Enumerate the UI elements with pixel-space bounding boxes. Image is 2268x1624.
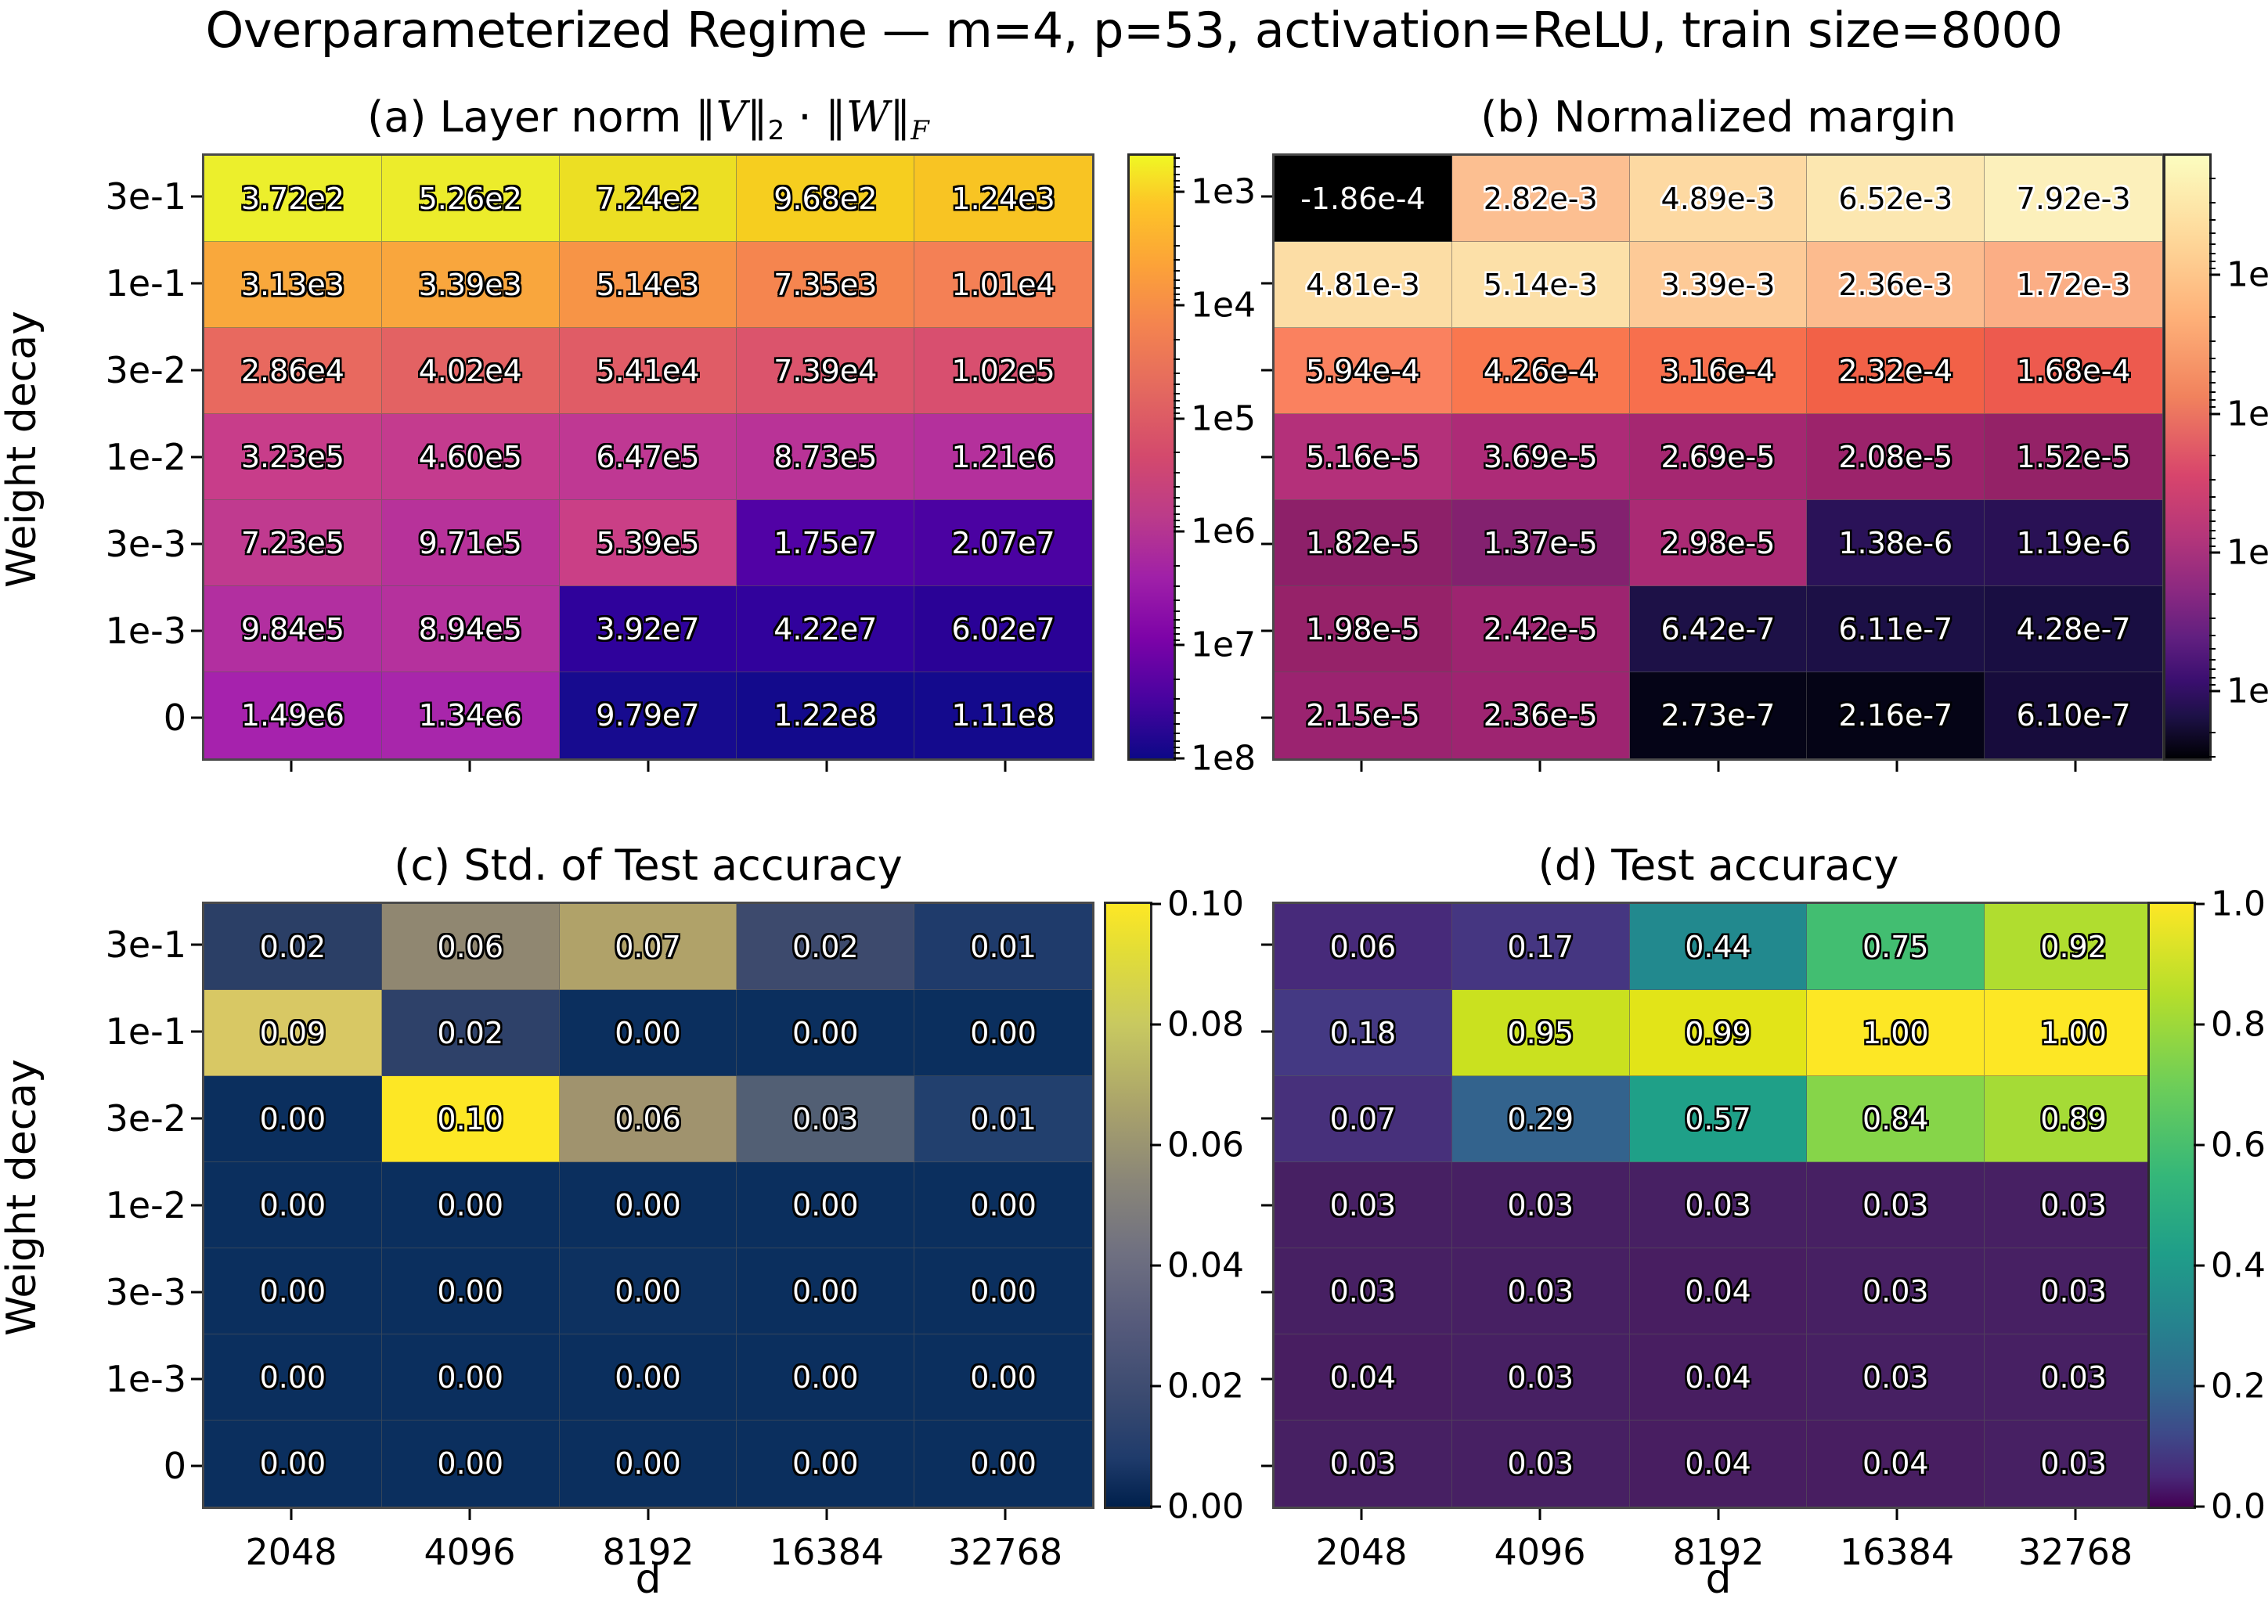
heatmap-cell-value: 0.00 (970, 1016, 1037, 1050)
colorbar-tick-label: 1e6 (1191, 512, 1256, 552)
colorbar-minor-tick (1174, 723, 1180, 725)
heatmap-cell-value: 0.03 (792, 1102, 859, 1136)
heatmap-cell-value: 0.04 (1685, 1360, 1751, 1395)
colorbar-minor-tick (2209, 268, 2216, 269)
colorbar-tick-label: 0.6 (2211, 1125, 2266, 1165)
heatmap-cell-value: 2.32e-4 (1838, 354, 1952, 388)
heatmap-cell: 1.82e-5 (1275, 500, 1452, 586)
y-tick-mark (1261, 944, 1272, 946)
heatmap-cell-value: 0.10 (437, 1102, 503, 1136)
colorbar-minor-tick (1174, 520, 1180, 521)
heatmap-cell: 0.00 (737, 1421, 914, 1507)
heatmap-cell: 0.00 (382, 1248, 560, 1334)
panel-d-heatmap-grid: 0.060.170.440.750.920.180.950.991.001.00… (1272, 902, 2165, 1509)
heatmap-cell-value: 7.23e5 (241, 526, 344, 560)
heatmap-cell-value: 4.60e5 (419, 440, 522, 474)
heatmap-cell: 2.32e-4 (1807, 328, 1985, 414)
colorbar-minor-tick (2209, 455, 2216, 456)
colorbar-minor-tick (1174, 619, 1180, 621)
heatmap-cell: 0.03 (1275, 1421, 1452, 1507)
heatmap-cell-value: 0.00 (437, 1446, 503, 1481)
heatmap-cell-value: 0.00 (792, 1446, 859, 1481)
heatmap-cell-value: 2.07e7 (952, 526, 1055, 560)
heatmap-cell-value: 2.73e-7 (1661, 698, 1776, 733)
colorbar-minor-tick (1174, 752, 1180, 754)
colorbar-minor-tick (2209, 496, 2216, 498)
colorbar-minor-tick (1174, 339, 1180, 340)
colorbar-minor-tick (2209, 253, 2216, 254)
colorbar-tick-label: 1e8 (1191, 739, 1256, 779)
heatmap-cell-value: 7.39e4 (773, 354, 877, 388)
y-tick-mark (191, 542, 202, 545)
heatmap-cell: 0.75 (1807, 904, 1985, 990)
heatmap-cell: 0.03 (1807, 1248, 1985, 1334)
heatmap-cell: 3.39e3 (382, 242, 560, 328)
heatmap-cell: 0.02 (737, 904, 914, 990)
heatmap-cell: 1.11e8 (914, 672, 1092, 758)
heatmap-cell-value: 0.17 (1507, 930, 1574, 964)
heatmap-cell: 0.00 (382, 1421, 560, 1507)
colorbar-minor-tick (2209, 732, 2216, 733)
heatmap-cell-value: 1.34e6 (419, 698, 522, 733)
y-tick-label: 3e-1 (106, 924, 186, 966)
colorbar-minor-tick (2209, 371, 2216, 373)
heatmap-cell: 1.38e-6 (1807, 500, 1985, 586)
heatmap-cell-value: 0.00 (260, 1188, 326, 1223)
heatmap-cell-value: 7.35e3 (773, 268, 877, 302)
heatmap-cell-value: 0.03 (1862, 1188, 1929, 1223)
heatmap-cell-value: 4.28e-7 (2017, 612, 2131, 646)
heatmap-cell-value: 1.11e8 (952, 698, 1055, 733)
heatmap-cell-value: 9.84e5 (241, 612, 344, 646)
colorbar-tick-mark (1174, 531, 1184, 533)
colorbar-tick-mark (2194, 1506, 2205, 1508)
colorbar-minor-tick (1174, 157, 1180, 159)
heatmap-cell: 0.89 (1985, 1076, 2162, 1162)
heatmap-cell: 0.02 (382, 990, 560, 1076)
heatmap-cell: 2.36e-3 (1807, 242, 1985, 328)
x-tick-mark (469, 1509, 471, 1520)
heatmap-cell: 0.92 (1985, 904, 2162, 990)
y-tick-label: 1e-2 (106, 1184, 186, 1226)
colorbar-tick-mark (1150, 903, 1161, 906)
heatmap-cell: 5.41e4 (560, 328, 737, 414)
y-tick-mark (1261, 1031, 1272, 1033)
y-tick-mark (1261, 1377, 1272, 1380)
colorbar-tick-mark (1174, 304, 1184, 306)
heatmap-cell-value: 6.10e-7 (2017, 698, 2131, 733)
colorbar-tick-label: 0.06 (1167, 1125, 1244, 1165)
colorbar-minor-tick (1174, 259, 1180, 261)
heatmap-cell: 7.23e5 (204, 500, 382, 586)
panel-a-title-dot: · (784, 92, 825, 142)
colorbar-minor-tick (2209, 243, 2216, 245)
colorbar-minor-tick (2209, 178, 2216, 179)
y-tick-mark (191, 283, 202, 285)
colorbar-minor-tick (1174, 270, 1180, 272)
heatmap-cell: 0.03 (1985, 1334, 2162, 1421)
heatmap-cell-value: 2.36e-3 (1838, 268, 1952, 302)
heatmap-cell: 0.00 (560, 1162, 737, 1248)
y-tick-mark (191, 716, 202, 718)
x-tick-mark (1896, 1509, 1898, 1520)
colorbar-minor-tick (2209, 677, 2216, 679)
colorbar-minor-tick (2209, 382, 2216, 383)
heatmap-cell: 0.04 (1630, 1248, 1808, 1334)
heatmap-cell-value: 2.42e-5 (1484, 612, 1598, 646)
heatmap-cell-value: 0.00 (792, 1274, 859, 1309)
heatmap-cell-value: 3.92e7 (596, 612, 699, 646)
y-tick-mark (1261, 542, 1272, 545)
heatmap-cell: 0.03 (737, 1076, 914, 1162)
heatmap-cell: 0.00 (914, 1334, 1092, 1421)
heatmap-cell-value: 1.01e4 (952, 268, 1055, 302)
heatmap-cell-value: 6.11e-7 (1838, 612, 1952, 646)
heatmap-cell: 0.10 (382, 1076, 560, 1162)
heatmap-cell: 2.42e-5 (1452, 586, 1630, 672)
heatmap-cell-value: 4.22e7 (773, 612, 877, 646)
heatmap-cell-value: 0.06 (437, 930, 503, 964)
panel-a-title-v: V (716, 92, 747, 142)
x-tick-mark (1004, 761, 1007, 772)
heatmap-cell-value: 0.03 (1330, 1446, 1397, 1481)
heatmap-cell: 0.00 (382, 1334, 560, 1421)
heatmap-cell-value: 0.00 (260, 1102, 326, 1136)
heatmap-cell-value: 6.47e5 (596, 440, 699, 474)
heatmap-cell: 1.34e6 (382, 672, 560, 758)
y-tick-mark (191, 369, 202, 372)
y-tick-mark (191, 1118, 202, 1120)
heatmap-cell-value: 4.89e-3 (1661, 182, 1776, 216)
heatmap-cell-value: 1.49e6 (241, 698, 344, 733)
heatmap-cell-value: 0.89 (2040, 1102, 2107, 1136)
heatmap-cell: 4.28e-7 (1985, 586, 2162, 672)
heatmap-cell: 0.00 (914, 990, 1092, 1076)
heatmap-cell: 0.00 (204, 1076, 382, 1162)
heatmap-cell-value: 0.00 (437, 1188, 503, 1223)
heatmap-cell-value: 9.71e5 (419, 526, 522, 560)
heatmap-cell-value: 2.36e-5 (1484, 698, 1598, 733)
colorbar-minor-tick (1174, 245, 1180, 247)
colorbar-tick-mark (1150, 1265, 1161, 1267)
heatmap-cell-value: 0.09 (260, 1016, 326, 1050)
heatmap-cell-value: 1.00 (2040, 1016, 2107, 1050)
heatmap-cell-value: 0.92 (2040, 930, 2107, 964)
heatmap-cell-value: 1.00 (1862, 1016, 1929, 1050)
y-tick-label: 1e-1 (106, 1010, 186, 1053)
heatmap-cell: 3.23e5 (204, 414, 382, 500)
heatmap-cell: 1.01e4 (914, 242, 1092, 328)
heatmap-cell-value: 0.03 (1330, 1188, 1397, 1223)
x-tick-mark (1361, 1509, 1363, 1520)
heatmap-cell: 0.17 (1452, 904, 1630, 990)
heatmap-cell: 0.04 (1630, 1334, 1808, 1421)
heatmap-cell: 5.14e3 (560, 242, 737, 328)
colorbar-minor-tick (1174, 407, 1180, 409)
x-tick-mark (647, 761, 650, 772)
heatmap-cell-value: 1.21e6 (952, 440, 1055, 474)
heatmap-cell-value: 1.98e-5 (1306, 612, 1420, 646)
heatmap-cell: 1.19e-6 (1985, 500, 2162, 586)
heatmap-cell-value: 0.75 (1862, 930, 1929, 964)
heatmap-cell: 0.01 (914, 1076, 1092, 1162)
heatmap-cell: 0.06 (560, 1076, 737, 1162)
heatmap-cell: 2.36e-5 (1452, 672, 1630, 758)
heatmap-cell-value: 0.03 (1507, 1274, 1574, 1309)
heatmap-cell: 0.03 (1985, 1162, 2162, 1248)
heatmap-cell-value: 0.44 (1685, 930, 1751, 964)
heatmap-cell-value: 1.52e-5 (2017, 440, 2131, 474)
y-tick-mark (1261, 369, 1272, 372)
figure-suptitle: Overparameterized Regime — m=4, p=53, ac… (0, 2, 2268, 59)
heatmap-cell: 6.47e5 (560, 414, 737, 500)
panel-d-colorbar: 1.00.80.60.40.20.0 (2147, 902, 2196, 1509)
colorbar-tick-label: 0.04 (1167, 1246, 1244, 1286)
heatmap-cell-value: 5.14e-3 (1484, 268, 1598, 302)
heatmap-cell: 9.79e7 (560, 672, 737, 758)
heatmap-cell-value: 0.00 (970, 1360, 1037, 1395)
heatmap-cell: 7.24e2 (560, 156, 737, 242)
colorbar-tick-label: 0.10 (1167, 884, 1244, 924)
heatmap-cell-value: 5.39e5 (596, 526, 699, 560)
heatmap-cell: 0.95 (1452, 990, 1630, 1076)
y-tick-mark (1261, 1204, 1272, 1207)
panel-a-ylabel: Weight decay (0, 261, 45, 637)
y-tick-label: 0 (164, 697, 186, 739)
heatmap-cell: 0.18 (1275, 990, 1452, 1076)
heatmap-cell-value: 7.92e-3 (2017, 182, 2131, 216)
colorbar-tick-mark (1174, 417, 1184, 420)
heatmap-cell: 2.73e-7 (1630, 672, 1808, 758)
heatmap-cell: 1.02e5 (914, 328, 1092, 414)
heatmap-cell-value: 3.23e5 (241, 440, 344, 474)
y-tick-mark (191, 1291, 202, 1293)
heatmap-cell: 0.03 (1452, 1334, 1630, 1421)
colorbar-minor-tick (1174, 225, 1180, 227)
heatmap-cell: 9.68e2 (737, 156, 914, 242)
x-tick-mark (1718, 761, 1720, 772)
heatmap-cell-value: 1.68e-4 (2017, 354, 2131, 388)
heatmap-cell-value: 0.02 (260, 930, 326, 964)
heatmap-cell: 1.98e-5 (1275, 586, 1452, 672)
heatmap-cell: 0.00 (737, 990, 914, 1076)
heatmap-cell: 3.72e2 (204, 156, 382, 242)
heatmap-cell-value: 4.26e-4 (1484, 354, 1598, 388)
heatmap-cell: 6.02e7 (914, 586, 1092, 672)
heatmap-cell-value: 0.00 (260, 1360, 326, 1395)
heatmap-cell-value: 0.07 (1330, 1102, 1397, 1136)
heatmap-cell-value: 2.82e-3 (1484, 182, 1598, 216)
x-tick-mark (647, 1509, 650, 1520)
colorbar-minor-tick (1174, 639, 1180, 641)
colorbar-minor-tick (2209, 668, 2216, 670)
heatmap-cell-value: 4.02e4 (419, 354, 522, 388)
heatmap-cell-value: 5.26e2 (419, 182, 522, 216)
heatmap-cell-value: 0.84 (1862, 1102, 1929, 1136)
y-tick-label: 0 (164, 1445, 186, 1487)
heatmap-cell-value: 0.03 (1330, 1274, 1397, 1309)
figure-canvas: Overparameterized Regime — m=4, p=53, ac… (0, 0, 2268, 1624)
heatmap-cell: 6.11e-7 (1807, 586, 1985, 672)
heatmap-cell-value: 3.16e-4 (1661, 354, 1776, 388)
heatmap-cell: 3.69e-5 (1452, 414, 1630, 500)
y-tick-mark (1261, 1291, 1272, 1293)
heatmap-cell: 1.52e-5 (1985, 414, 2162, 500)
panel-a-title-sub2: 2 (768, 115, 785, 146)
colorbar-minor-tick (1174, 373, 1180, 374)
colorbar-minor-tick (1174, 698, 1180, 700)
heatmap-cell: 1.00 (1985, 990, 2162, 1076)
colorbar-minor-tick (2209, 635, 2216, 636)
heatmap-cell: 1.21e6 (914, 414, 1092, 500)
y-tick-mark (1261, 1464, 1272, 1467)
colorbar-tick-mark (1174, 644, 1184, 646)
x-tick-mark (1539, 761, 1541, 772)
heatmap-cell: 4.22e7 (737, 586, 914, 672)
colorbar-minor-tick (1174, 740, 1180, 742)
heatmap-cell: 0.04 (1275, 1334, 1452, 1421)
heatmap-cell: 1.68e-4 (1985, 328, 2162, 414)
colorbar-minor-tick (2209, 520, 2216, 522)
colorbar-minor-tick (1174, 526, 1180, 528)
heatmap-cell: 0.04 (1630, 1421, 1808, 1507)
heatmap-cell-value: 0.00 (792, 1188, 859, 1223)
colorbar-minor-tick (1174, 383, 1180, 385)
colorbar-minor-tick (2209, 659, 2216, 661)
heatmap-cell: 5.39e5 (560, 500, 737, 586)
colorbar-minor-tick (2209, 219, 2216, 221)
heatmap-cell-value: 0.00 (260, 1274, 326, 1309)
colorbar-tick-label: 1e-4 (2227, 394, 2268, 434)
colorbar-tick-label: 0.08 (1167, 1005, 1244, 1045)
y-tick-mark (1261, 456, 1272, 459)
heatmap-cell-value: 1.37e-5 (1484, 526, 1598, 560)
colorbar-minor-tick (2209, 756, 2216, 758)
heatmap-cell-value: 3.39e-3 (1661, 268, 1776, 302)
colorbar-minor-tick (1174, 506, 1180, 507)
colorbar-minor-tick (1174, 733, 1180, 734)
heatmap-cell-value: 0.03 (2040, 1188, 2107, 1223)
y-tick-label: 3e-2 (106, 1097, 186, 1140)
heatmap-cell: 2.16e-7 (1807, 672, 1985, 758)
colorbar-minor-tick (1174, 358, 1180, 360)
heatmap-cell-value: 0.03 (1685, 1188, 1751, 1223)
heatmap-cell-value: 0.06 (1330, 930, 1397, 964)
heatmap-cell: 4.02e4 (382, 328, 560, 414)
heatmap-cell-value: 0.00 (615, 1188, 681, 1223)
heatmap-cell-value: 3.13e3 (241, 268, 344, 302)
colorbar-minor-tick (2209, 399, 2216, 401)
heatmap-cell-value: 0.03 (1507, 1446, 1574, 1481)
heatmap-cell: 0.03 (1630, 1162, 1808, 1248)
panel-c-heatmap-grid: 0.020.060.070.020.010.090.020.000.000.00… (202, 902, 1094, 1509)
colorbar-tick-label: 1e-3 (2227, 255, 2268, 295)
y-tick-mark (191, 1377, 202, 1380)
heatmap-cell-value: 3.72e2 (241, 182, 344, 216)
y-tick-label: 1e-3 (106, 1358, 186, 1400)
heatmap-cell: 0.00 (204, 1248, 382, 1334)
panel-c-colorbar: 0.100.080.060.040.020.00 (1104, 902, 1152, 1509)
heatmap-cell-value: 0.03 (1507, 1360, 1574, 1395)
panel-a: (a) Layer norm ∥V∥2 · ∥W∥F 3.72e25.26e27… (202, 153, 1094, 761)
x-tick-mark (290, 761, 293, 772)
heatmap-cell: 0.04 (1807, 1421, 1985, 1507)
heatmap-cell: 0.02 (204, 904, 382, 990)
heatmap-cell-value: 3.69e-5 (1484, 440, 1598, 474)
colorbar-minor-tick (2209, 538, 2216, 539)
heatmap-cell: 0.00 (382, 1162, 560, 1248)
heatmap-cell: 0.01 (914, 904, 1092, 990)
heatmap-cell: 0.00 (560, 990, 737, 1076)
heatmap-cell-value: 0.00 (615, 1016, 681, 1050)
y-tick-mark (1261, 283, 1272, 285)
heatmap-cell-value: 2.08e-5 (1838, 440, 1952, 474)
heatmap-cell: 0.00 (560, 1421, 737, 1507)
heatmap-cell-value: 0.00 (437, 1360, 503, 1395)
colorbar-minor-tick (2209, 202, 2216, 203)
heatmap-cell-value: 5.41e4 (596, 354, 699, 388)
x-tick-mark (1896, 761, 1898, 772)
y-tick-mark (191, 456, 202, 459)
heatmap-cell: 0.00 (737, 1162, 914, 1248)
colorbar-minor-tick (2209, 530, 2216, 531)
heatmap-cell: 3.16e-4 (1630, 328, 1808, 414)
heatmap-cell: 1.00 (1807, 990, 1985, 1076)
colorbar-tick-label: 1e3 (1191, 172, 1256, 212)
y-tick-label: 3e-3 (106, 1271, 186, 1313)
colorbar-tick-mark (2194, 903, 2205, 906)
heatmap-cell: 0.06 (382, 904, 560, 990)
heatmap-cell-value: 9.68e2 (773, 182, 877, 216)
x-tick-mark (1718, 1509, 1720, 1520)
y-tick-mark (191, 1464, 202, 1467)
panel-d-title: (d) Test accuracy (1272, 841, 2165, 890)
heatmap-cell-value: 8.94e5 (419, 612, 522, 646)
colorbar-minor-tick (2209, 358, 2216, 359)
colorbar-tick-mark (2194, 1024, 2205, 1026)
heatmap-cell-value: 0.04 (1862, 1446, 1929, 1481)
heatmap-cell: 1.72e-3 (1985, 242, 2162, 328)
panel-d: (d) Test accuracy 0.060.170.440.750.920.… (1272, 902, 2165, 1509)
colorbar-minor-tick (1174, 565, 1180, 567)
panel-a-title-subf: F (910, 115, 929, 146)
heatmap-cell: 0.03 (1452, 1421, 1630, 1507)
heatmap-cell-value: 1.24e3 (952, 182, 1055, 216)
colorbar-minor-tick (1174, 287, 1180, 289)
heatmap-cell-value: 0.07 (615, 930, 681, 964)
heatmap-cell-value: 0.00 (970, 1446, 1037, 1481)
heatmap-cell: 4.60e5 (382, 414, 560, 500)
colorbar-minor-tick (1174, 486, 1180, 488)
heatmap-cell: 0.03 (1275, 1162, 1452, 1248)
colorbar-minor-tick (1174, 627, 1180, 628)
y-tick-mark (1261, 1118, 1272, 1120)
heatmap-cell: 7.39e4 (737, 328, 914, 414)
y-tick-mark (191, 944, 202, 946)
heatmap-cell-value: 7.24e2 (596, 182, 699, 216)
panel-d-xlabel: d (1272, 1556, 2165, 1603)
heatmap-cell-value: 0.01 (970, 930, 1037, 964)
colorbar-tick-label: 1e5 (1191, 398, 1256, 438)
colorbar-minor-tick (1174, 293, 1180, 295)
heatmap-cell-value: 0.03 (1862, 1274, 1929, 1309)
heatmap-cell-value: 6.42e-7 (1661, 612, 1776, 646)
heatmap-cell-value: 2.15e-5 (1306, 698, 1420, 733)
colorbar-minor-tick (1174, 513, 1180, 515)
heatmap-cell: 0.00 (204, 1334, 382, 1421)
colorbar-minor-tick (2209, 684, 2216, 686)
heatmap-cell-value: 0.57 (1685, 1102, 1751, 1136)
